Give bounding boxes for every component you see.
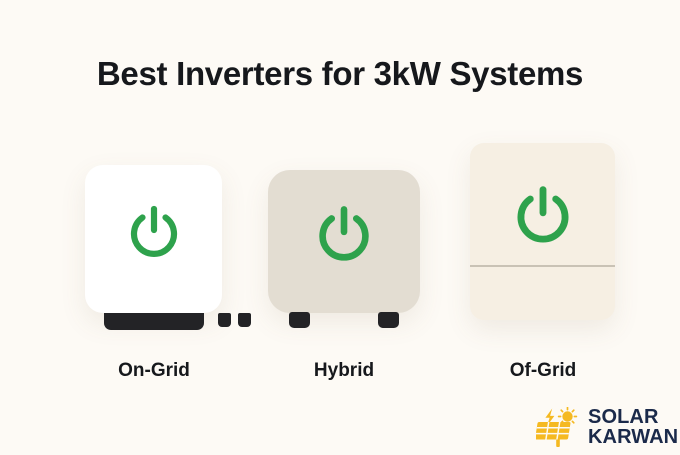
inverter-foot-1: [218, 313, 231, 327]
inverter-label-hybrid: Hybrid: [264, 360, 424, 382]
inverter-divider-line: [470, 265, 615, 267]
inverter-leg-1: [289, 312, 310, 328]
power-icon: [126, 203, 182, 266]
inverter-group: [0, 130, 680, 330]
inverter-off-grid: [470, 143, 615, 320]
inverter-labels: On-Grid Hybrid Of-Grid: [0, 360, 680, 390]
inverter-on-grid: [85, 165, 222, 313]
inverter-label-on-grid: On-Grid: [74, 360, 234, 382]
power-icon: [314, 203, 374, 270]
inverter-base-bar: [104, 313, 204, 330]
brand-logo-text: SOLAR KARWAN: [588, 408, 678, 447]
poster-canvas: Best Inverters for 3kW Systems: [0, 0, 680, 455]
inverter-hybrid: [268, 170, 420, 313]
inverter-label-off-grid: Of-Grid: [463, 360, 623, 382]
power-icon: [512, 183, 574, 252]
brand-logo-line-2: KARWAN: [588, 428, 678, 448]
solar-panel-sun-bolt-icon: [536, 407, 582, 449]
inverter-foot-2: [238, 313, 251, 327]
brand-logo: SOLAR KARWAN: [536, 404, 672, 452]
page-title: Best Inverters for 3kW Systems: [0, 55, 680, 93]
inverter-leg-2: [378, 312, 399, 328]
